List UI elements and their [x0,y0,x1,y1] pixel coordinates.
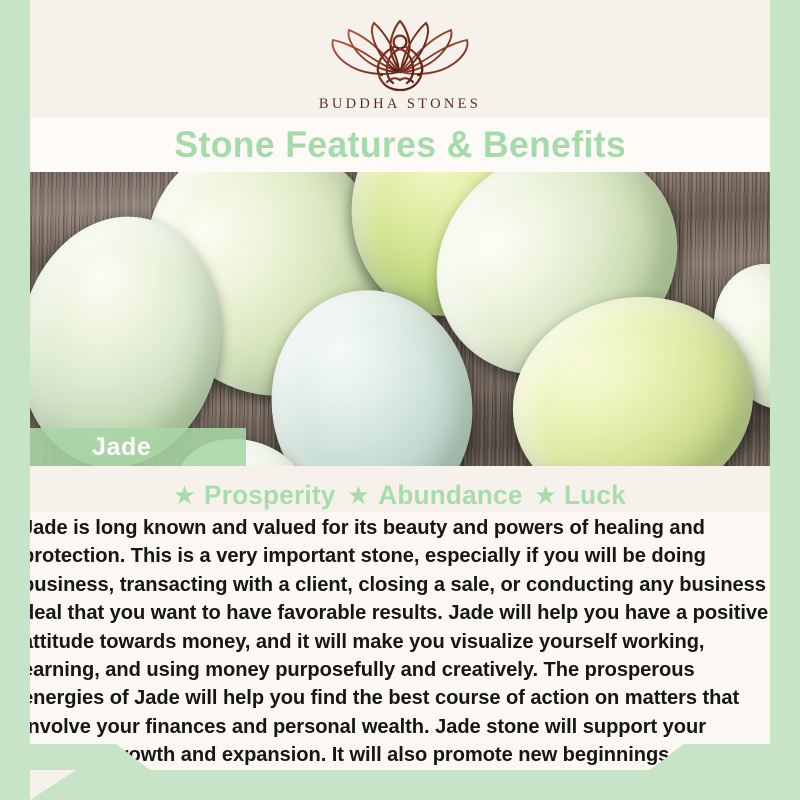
keyword-item-prosperity: ★ Prosperity [173,480,338,511]
keyword-item-luck: ★ Luck [534,480,627,511]
keyword-label: Luck [564,480,626,511]
keyword-label: Abundance [378,480,522,511]
star-icon: ★ [347,482,370,508]
jade-stones-photo: Jade [0,172,800,466]
frame-border-right [770,0,800,800]
stone-name-label: Jade [92,433,151,462]
star-icon: ★ [534,482,557,508]
stone-name-banner: Jade [30,428,246,466]
star-icon: ★ [173,482,196,508]
infographic-page: BUDDHA STONES Stone Features & Benefits … [0,0,800,800]
description-text: Jade is long known and valued for its be… [22,514,775,798]
keyword-label: Prosperity [204,480,335,511]
keyword-list: ★ Prosperity ★ Abundance ★ Luck [0,480,800,511]
brand-name: BUDDHA STONES [319,96,481,113]
frame-border-bottom [0,770,800,800]
keyword-item-abundance: ★ Abundance [347,480,525,511]
brand-logo: BUDDHA STONES [0,20,800,113]
frame-border-left [0,0,30,800]
title-banner: Stone Features & Benefits [20,118,780,172]
page-title: Stone Features & Benefits [174,124,626,166]
lotus-meditation-icon [327,20,473,92]
